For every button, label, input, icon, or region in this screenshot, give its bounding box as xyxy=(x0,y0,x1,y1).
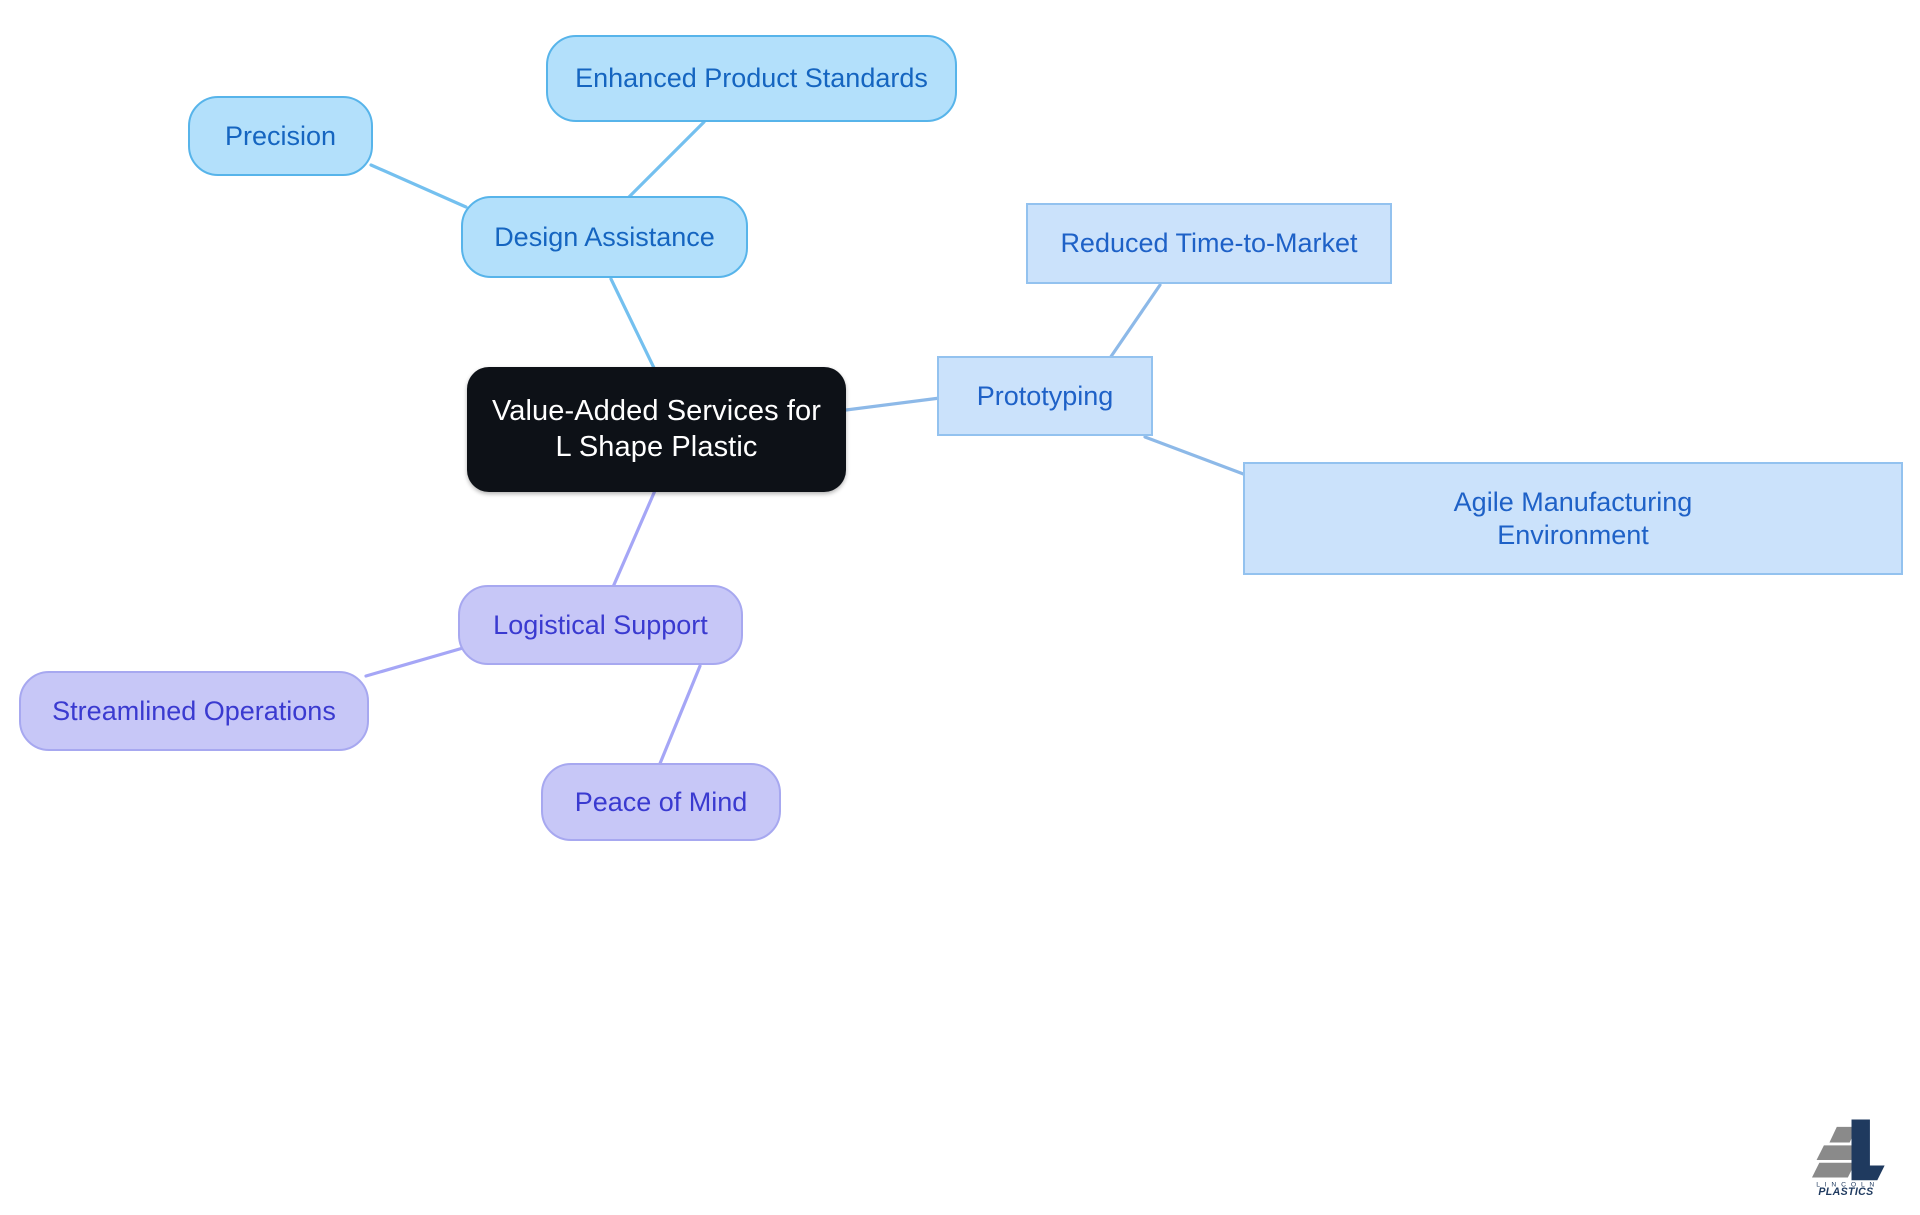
mindmap-node-root[interactable]: Value-Added Services for L Shape Plastic xyxy=(467,367,846,492)
node-label-precision: Precision xyxy=(209,120,352,153)
node-label-prototyping: Prototyping xyxy=(961,380,1130,413)
node-label-logistical-support: Logistical Support xyxy=(477,609,724,642)
mindmap-node-reduced-time-to-market[interactable]: Reduced Time-to-Market xyxy=(1026,203,1392,284)
logo-mark xyxy=(1812,1120,1885,1181)
edge-reduced-time-to-market-to-prototyping xyxy=(1110,285,1160,358)
logo-letter-l xyxy=(1852,1120,1885,1181)
node-label-design-assistance: Design Assistance xyxy=(478,221,731,254)
logo-text-plastics: PLASTICS xyxy=(1818,1186,1873,1195)
edge-prototyping-to-root xyxy=(846,398,940,410)
node-label-root: Value-Added Services for L Shape Plastic xyxy=(467,394,846,465)
edge-precision-to-design-assistance xyxy=(371,165,466,207)
node-label-reduced-time-to-market: Reduced Time-to-Market xyxy=(1044,227,1373,260)
mindmap-node-prototyping[interactable]: Prototyping xyxy=(937,356,1153,436)
mindmap-node-enhanced-product-standards[interactable]: Enhanced Product Standards xyxy=(546,35,957,122)
edge-enhanced-product-standards-to-design-assistance xyxy=(626,122,704,200)
node-label-streamlined-operations: Streamlined Operations xyxy=(36,695,352,728)
edge-logistical-support-to-root xyxy=(613,486,657,587)
edge-peace-of-mind-to-logistical-support xyxy=(659,666,700,766)
mindmap-node-peace-of-mind[interactable]: Peace of Mind xyxy=(541,763,781,841)
node-label-enhanced-product-standards: Enhanced Product Standards xyxy=(559,62,944,95)
mindmap-canvas: Value-Added Services for L Shape Plastic… xyxy=(0,0,1920,1215)
mindmap-node-logistical-support[interactable]: Logistical Support xyxy=(458,585,743,665)
edge-agile-manufacturing-environment-to-prototyping xyxy=(1145,437,1254,478)
mindmap-node-agile-manufacturing-environment[interactable]: Agile Manufacturing Environment xyxy=(1243,462,1903,575)
node-label-peace-of-mind: Peace of Mind xyxy=(559,786,764,819)
edge-design-assistance-to-root xyxy=(611,279,655,370)
mindmap-node-streamlined-operations[interactable]: Streamlined Operations xyxy=(19,671,369,751)
lincoln-plastics-logo: L I N C O L N PLASTICS xyxy=(1800,1103,1892,1195)
mindmap-node-precision[interactable]: Precision xyxy=(188,96,373,176)
logo-bar-bottom xyxy=(1812,1163,1855,1178)
node-label-agile-manufacturing-environment: Agile Manufacturing Environment xyxy=(1438,486,1709,552)
edge-streamlined-operations-to-logistical-support xyxy=(366,648,463,676)
mindmap-node-design-assistance[interactable]: Design Assistance xyxy=(461,196,748,278)
edge-layer xyxy=(0,0,1920,1215)
